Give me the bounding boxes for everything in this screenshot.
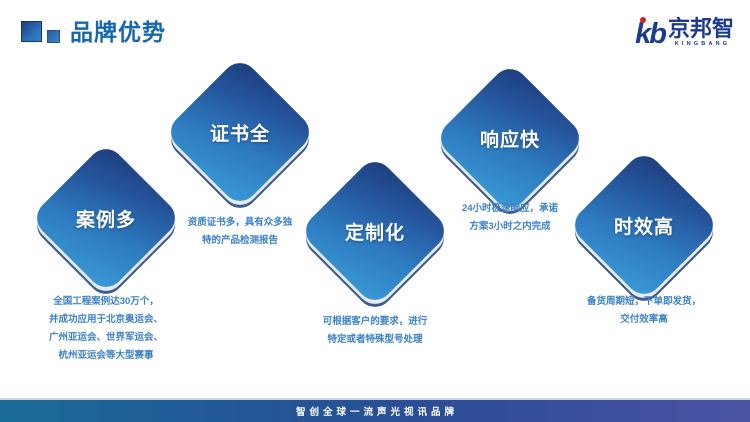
advantage-caption-case-count: 全国工程案例达30万个，并成功应用于北京奥运会、广州亚运会、世界军运会、杭州亚运…	[0, 293, 212, 365]
logo-mark-kb: kb	[635, 20, 665, 49]
logo-dot-icon	[640, 17, 646, 23]
footer-slogan: 智创全球一流声光视讯品牌	[292, 404, 458, 418]
slide-canvas: 品牌优势 kb 京邦智 KINGBANG 案例多 全国工程案例达30万个，并成功…	[0, 0, 750, 422]
diamond-label: 证书全	[186, 78, 294, 186]
diamond-label: 响应快	[456, 84, 564, 192]
diamond-label: 时效高	[590, 171, 698, 279]
advantage-caption-customization: 可根据客户的要求，进行特定或者特殊型号处理	[269, 313, 481, 349]
logo-english-name: KINGBANG	[675, 40, 731, 48]
diamond-shape: 证书全	[186, 78, 294, 186]
square-decor-small-icon	[47, 30, 60, 43]
footer-bar: 智创全球一流声光视讯品牌	[0, 400, 750, 422]
brand-logo: kb 京邦智 KINGBANG	[635, 17, 734, 49]
square-decor-large-icon	[21, 21, 42, 42]
logo-name-block: 京邦智 KINGBANG	[668, 17, 734, 48]
logo-chinese-name: 京邦智	[668, 17, 734, 40]
diamond-shape: 响应快	[456, 84, 564, 192]
advantage-caption-high-efficiency: 备货周期短，下单即发货，交付效率高	[538, 293, 750, 329]
diamond-shape: 时效高	[590, 171, 698, 279]
page-title: 品牌优势	[70, 18, 166, 46]
